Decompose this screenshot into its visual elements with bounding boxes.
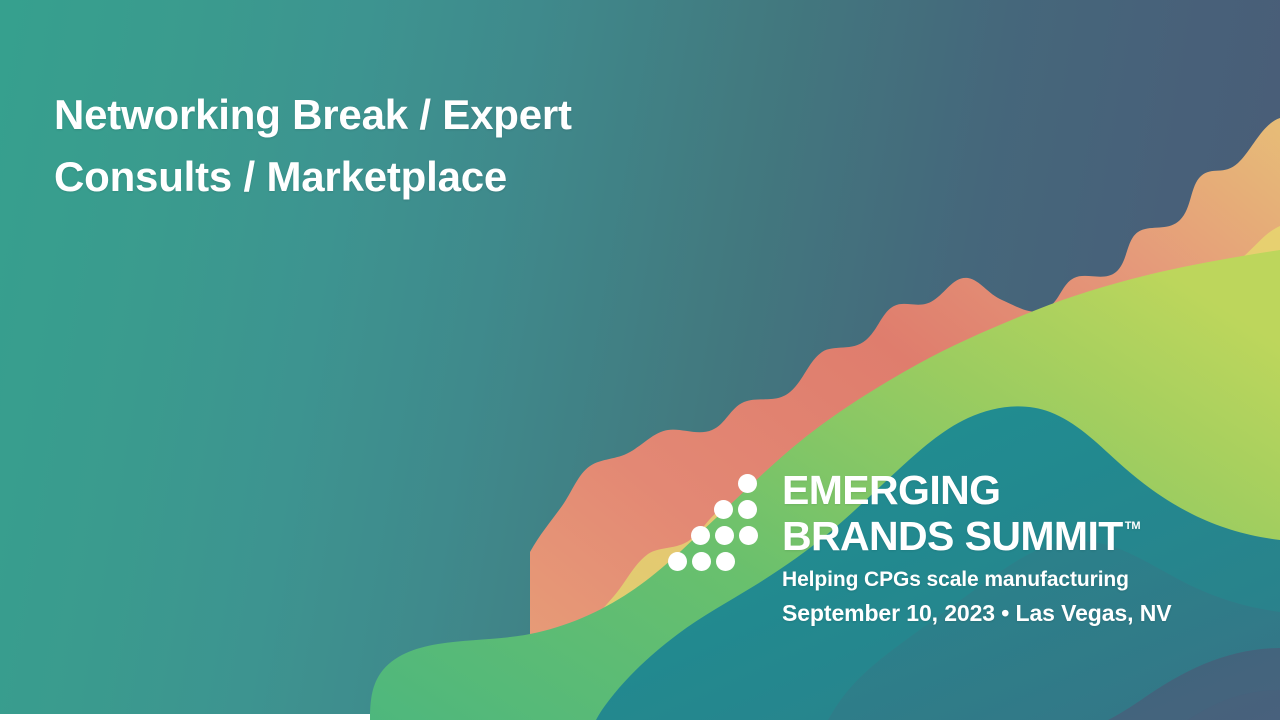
logo-dot bbox=[715, 526, 734, 545]
page-title-line-2: Consults / Marketplace bbox=[54, 146, 754, 208]
logo-dot bbox=[716, 552, 735, 571]
logo-wordmark: EMERGING BRANDS SUMMITTM Helping CPGs sc… bbox=[782, 470, 1228, 627]
logo-date-location: September 10, 2023 • Las Vegas, NV bbox=[782, 600, 1228, 627]
logo-word-emerging: EMERGING bbox=[782, 470, 1228, 511]
trademark-mark: TM bbox=[1125, 520, 1141, 532]
dot-staircase-icon bbox=[668, 474, 760, 574]
page-title-line-1: Networking Break / Expert bbox=[54, 84, 754, 146]
presentation-slide: Networking Break / Expert Consults / Mar… bbox=[0, 0, 1280, 720]
logo-dot bbox=[738, 474, 757, 493]
logo-word-brands-summit-text: BRANDS SUMMIT bbox=[782, 513, 1123, 559]
page-title: Networking Break / Expert Consults / Mar… bbox=[54, 84, 754, 208]
logo-dot bbox=[738, 500, 757, 519]
logo-dot bbox=[692, 552, 711, 571]
bottom-white-trim bbox=[0, 714, 370, 720]
logo-dot bbox=[668, 552, 687, 571]
logo-dot bbox=[714, 500, 733, 519]
logo-word-brands-summit: BRANDS SUMMITTM bbox=[782, 516, 1228, 557]
logo-dot bbox=[691, 526, 710, 545]
event-logo-lockup: EMERGING BRANDS SUMMITTM Helping CPGs sc… bbox=[668, 470, 1228, 640]
logo-tagline: Helping CPGs scale manufacturing bbox=[782, 568, 1228, 592]
logo-dot bbox=[739, 526, 758, 545]
